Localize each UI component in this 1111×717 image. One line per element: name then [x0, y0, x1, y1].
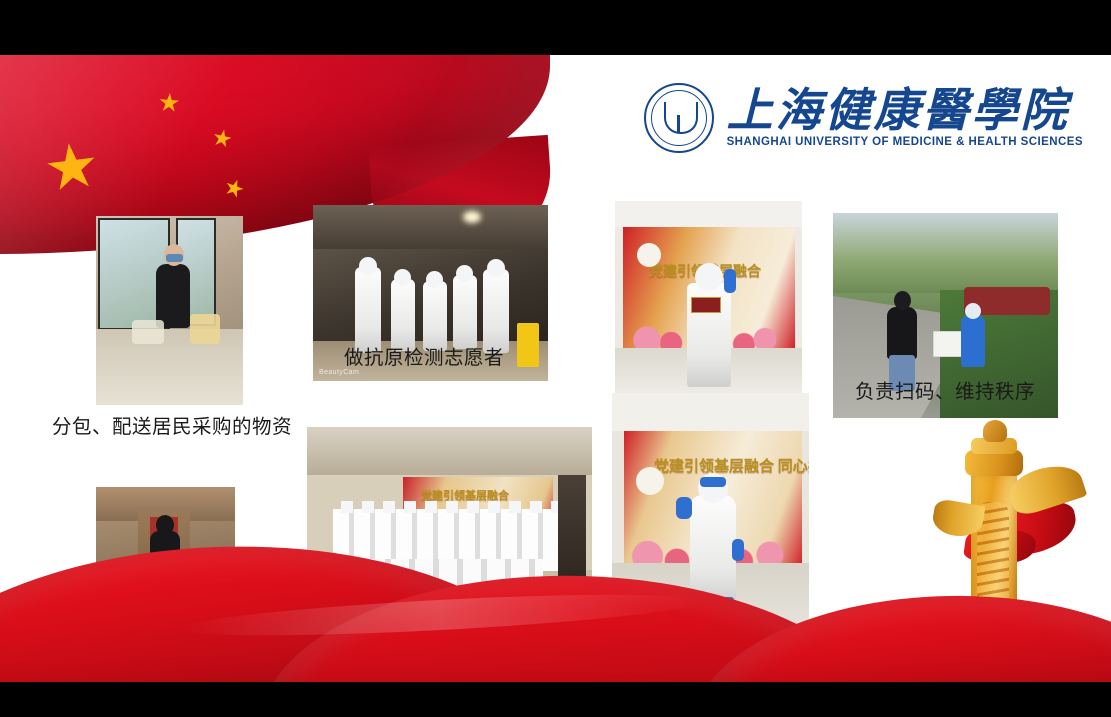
university-seal-icon	[644, 83, 714, 153]
caption-antigen-testing: 做抗原检测志愿者	[344, 341, 504, 370]
ceiling	[313, 205, 548, 249]
mythical-beast-top	[983, 420, 1007, 442]
person-figure	[156, 264, 190, 328]
peony-decoration	[729, 317, 789, 349]
ceiling-light	[463, 211, 481, 223]
lantern-decoration	[637, 243, 661, 267]
name-badge	[691, 297, 721, 313]
ppe-hood	[359, 257, 377, 275]
ceiling	[615, 201, 802, 227]
ppe-hood	[456, 265, 473, 282]
ppe-volunteer	[453, 275, 477, 349]
pedestrian-figure	[887, 307, 917, 359]
red-silk-decoration	[0, 492, 1111, 682]
caption-supply-delivery: 分包、配送居民采购的物资	[52, 410, 292, 439]
photo-volunteer-carrying-bags[interactable]	[96, 216, 243, 405]
ceiling	[307, 427, 592, 475]
lantern-decoration	[636, 467, 664, 495]
ppe-hood	[394, 269, 411, 286]
letterbox-bottom	[0, 682, 1111, 717]
photo-content	[96, 216, 243, 405]
university-name-chinese: 上海健康醫學院	[727, 88, 1083, 134]
university-name-english: SHANGHAI UNIVERSITY OF MEDICINE & HEALTH…	[727, 136, 1083, 148]
banner-text: 党建引领基层融合 同心共筑和谐家园	[654, 457, 809, 477]
ceiling	[612, 393, 809, 431]
university-logo: 上海健康醫學院 SHANGHAI UNIVERSITY OF MEDICINE …	[644, 83, 1083, 153]
grocery-bag	[190, 314, 220, 344]
photo-floor	[96, 329, 243, 405]
grocery-bag	[132, 320, 164, 344]
face-shield	[700, 477, 726, 487]
presentation-viewer: ★ ★ ★ ★ ★ 上海健康醫學院 SHANGHAI UNIVERSITY OF…	[0, 0, 1111, 717]
photo-watermark: BeautyCam	[319, 369, 359, 376]
letterbox-top	[0, 0, 1111, 55]
thumbs-up-glove	[724, 269, 736, 293]
worker-head	[965, 303, 981, 319]
pedestrian-head	[894, 291, 911, 310]
ppe-hood	[695, 263, 723, 291]
caption-scan-code-order: 负责扫码、维持秩序	[855, 375, 1035, 404]
slide-canvas[interactable]: ★ ★ ★ ★ ★ 上海健康醫學院 SHANGHAI UNIVERSITY OF…	[0, 55, 1111, 682]
tree-canopy	[833, 213, 1058, 293]
ppe-hood	[426, 271, 443, 288]
photo-content: 党建引领基层融合	[615, 201, 802, 394]
university-logo-text: 上海健康醫學院 SHANGHAI UNIVERSITY OF MEDICINE …	[727, 88, 1083, 148]
flag-star-large: ★	[40, 134, 103, 202]
ppe-hood	[487, 259, 505, 277]
face-mask-icon	[166, 254, 183, 262]
peony-decoration	[629, 319, 689, 349]
blue-ppe-worker	[961, 315, 985, 367]
wet-floor-sign	[517, 323, 539, 367]
seal-stem	[677, 115, 680, 133]
flag-star-1: ★	[157, 90, 181, 117]
photo-volunteer-facing-banner[interactable]: 党建引领基层融合	[615, 201, 802, 394]
